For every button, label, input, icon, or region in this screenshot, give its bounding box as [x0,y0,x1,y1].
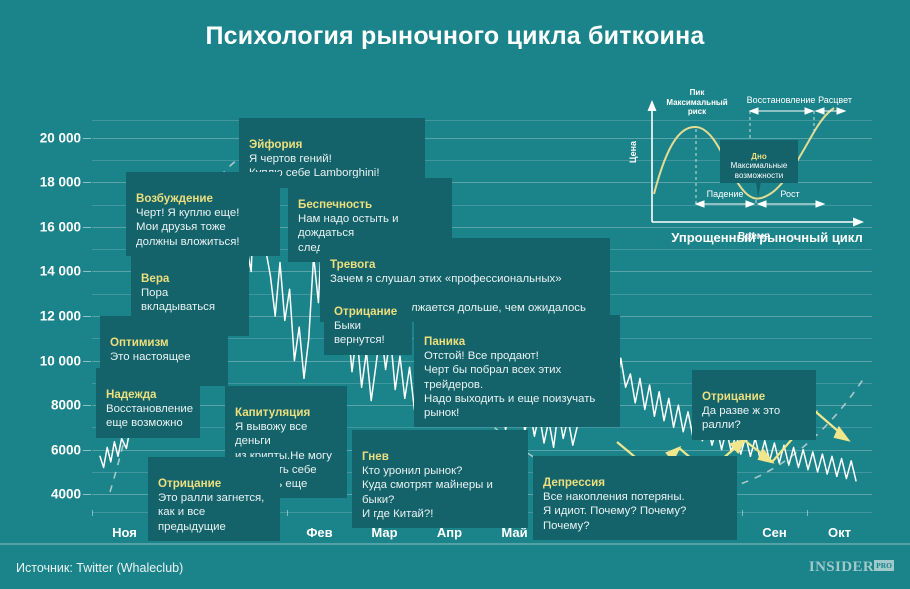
annotation-heading: Отрицание [334,304,403,319]
annotation-heading: Вера [141,271,240,286]
annotation-hope[interactable]: НадеждаВосстановление еще возможно [96,368,200,438]
annotation-body: Отстой! Все продают! Черт бы побрал всех… [424,350,595,419]
y-axis-tick [83,494,91,495]
inset-upper-brackets [750,108,845,114]
annotation-body: Да разве ж это ралли? [702,405,780,431]
annotation-heading: Отрицание [702,389,807,404]
y-axis-tick-label: 20 000 [40,130,81,145]
annotation-heading: Эйфория [249,137,416,152]
annotation-heading: Гнев [362,449,519,464]
page-title: Психология рыночного цикла биткоина [0,22,910,51]
y-axis-tick-label: 4000 [51,487,81,502]
x-axis-month: Фев [306,525,332,540]
inset-x-arrowhead [853,218,864,227]
annotation-heading: Беспечность [298,197,443,212]
annotation-heading: Оптимизм [110,335,219,350]
source-text: Источник: Twitter (Whaleclub) [16,561,183,575]
footer: Источник: Twitter (Whaleclub) INSIDERPRO [0,545,910,589]
inset-bottom-label: ДноМаксимальные возможности [720,140,798,183]
annotation-excitement[interactable]: ВозбуждениеЧерт! Я куплю еще! Мои друзья… [126,172,280,256]
annotation-depression[interactable]: ДепрессияВсе накопления потеряны. Я идио… [533,456,737,540]
market-cycle-inset: Цена Время Пик Максимальный риск ДноМакс… [624,82,910,250]
inset-growth-label: Рост [764,190,816,200]
inset-y-axis-label: Цена [628,141,638,163]
inset-decline-label: Падение [694,190,756,200]
annotation-body: Кто уронил рынок? Куда смотрят майнеры и… [362,465,493,520]
annotation-denial-2[interactable]: ОтрицаниеДа разве ж это ралли? [692,370,816,440]
y-axis-tick-label: 10 000 [40,353,81,368]
annotation-panic[interactable]: ПаникаОтстой! Все продают! Черт бы побра… [414,315,620,427]
x-axis-month: Окт [828,525,851,540]
inset-caption: Упрощенный рыночный цикл [624,230,910,245]
annotation-body: Черт! Я куплю еще! Мои друзья тоже должн… [136,207,240,247]
annotation-body: Быки вернутся! [334,320,385,346]
y-axis-tick [83,271,91,272]
annotation-heading: Капитуляция [235,405,338,420]
annotation-body: Это ралли загнется, как и все предыдущие [158,492,264,532]
y-axis-tick [83,227,91,228]
y-axis-tick [83,405,91,406]
inset-bottom-body: Максимальные возможности [731,161,788,180]
inset-boom-label: Расцвет [810,96,860,106]
annotation-heading: Отрицание [158,476,271,491]
inset-bottom-heading: Дно [726,152,792,162]
x-axis-month: Ноя [112,525,137,540]
y-axis-tick-label: 12 000 [40,309,81,324]
annotation-heading: Возбуждение [136,191,271,206]
y-axis-tick-label: 14 000 [40,264,81,279]
annotation-heading: Надежда [106,387,191,402]
y-axis-tick-label: 6000 [51,442,81,457]
annotation-heading: Паника [424,334,611,349]
infographic-root: Психология рыночного цикла биткоина [0,0,910,589]
annotation-heading: Депрессия [543,475,728,490]
annotation-body: Все накопления потеряны. Я идиот. Почему… [543,491,686,531]
y-axis-tick-label: 16 000 [40,219,81,234]
insider-pro-logo: INSIDERPRO [809,559,894,576]
annotation-anger[interactable]: ГневКто уронил рынок? Куда смотрят майне… [352,430,528,528]
y-axis-tick [83,316,91,317]
x-axis-month: Сен [762,525,786,540]
y-axis-tick [83,450,91,451]
inset-peak-label: Пик Максимальный риск [652,88,742,117]
annotation-heading: Тревога [330,257,601,272]
inset-lower-brackets [696,201,824,207]
y-axis-tick-label: 8000 [51,398,81,413]
y-axis-tick [83,361,91,362]
y-axis-tick-label: 18 000 [40,175,81,190]
annotation-denial-0[interactable]: ОтрицаниеЭто ралли загнется, как и все п… [148,457,280,541]
annotation-denial-1[interactable]: ОтрицаниеБыки вернутся! [324,285,412,355]
y-axis-tick [83,182,91,183]
annotation-body: Восстановление еще возможно [106,403,193,429]
y-axis-tick [83,138,91,139]
